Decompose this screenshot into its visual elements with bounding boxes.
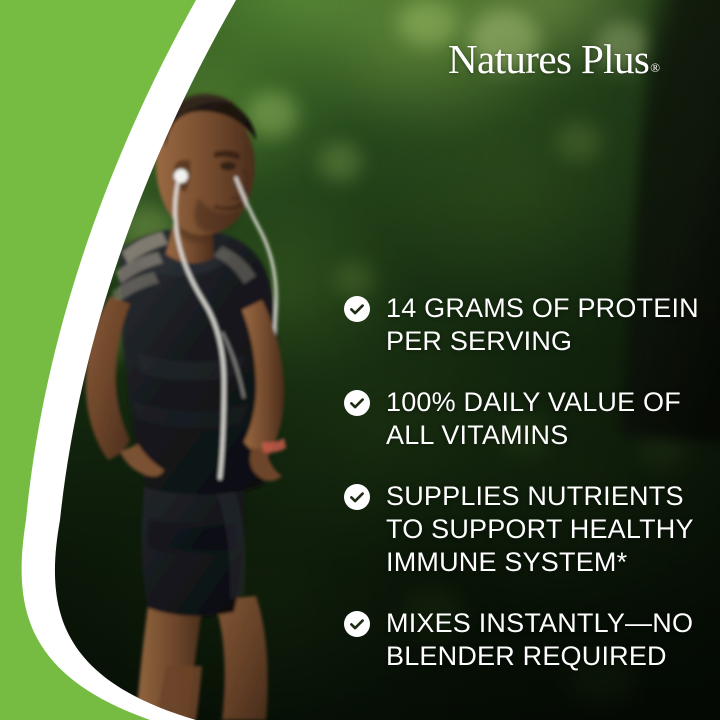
benefit-text: 100% DAILY VALUE OF ALL VITAMINS	[386, 386, 710, 452]
benefit-item: MIXES INSTANTLY—NO BLENDER REQUIRED	[344, 607, 710, 673]
benefit-text: 14 GRAMS OF PROTEIN PER SERVING	[386, 292, 710, 358]
benefit-item: 100% DAILY VALUE OF ALL VITAMINS	[344, 386, 710, 452]
benefits-list: 14 GRAMS OF PROTEIN PER SERVING 100% DAI…	[344, 292, 710, 673]
check-circle-icon	[344, 484, 370, 510]
benefit-text: SUPPLIES NUTRIENTS TO SUPPORT HEALTHY IM…	[386, 480, 710, 579]
benefit-item: 14 GRAMS OF PROTEIN PER SERVING	[344, 292, 710, 358]
promo-image: Natures Plus® 14 GRAMS OF PROTEIN PER SE…	[0, 0, 720, 720]
check-circle-icon	[344, 296, 370, 322]
check-circle-icon	[344, 611, 370, 637]
brand-logo: Natures Plus®	[448, 36, 688, 92]
registered-trademark-icon: ®	[650, 60, 660, 75]
brand-name: Natures Plus	[448, 36, 649, 82]
check-circle-icon	[344, 390, 370, 416]
benefit-item: SUPPLIES NUTRIENTS TO SUPPORT HEALTHY IM…	[344, 480, 710, 579]
benefit-text: MIXES INSTANTLY—NO BLENDER REQUIRED	[386, 607, 710, 673]
